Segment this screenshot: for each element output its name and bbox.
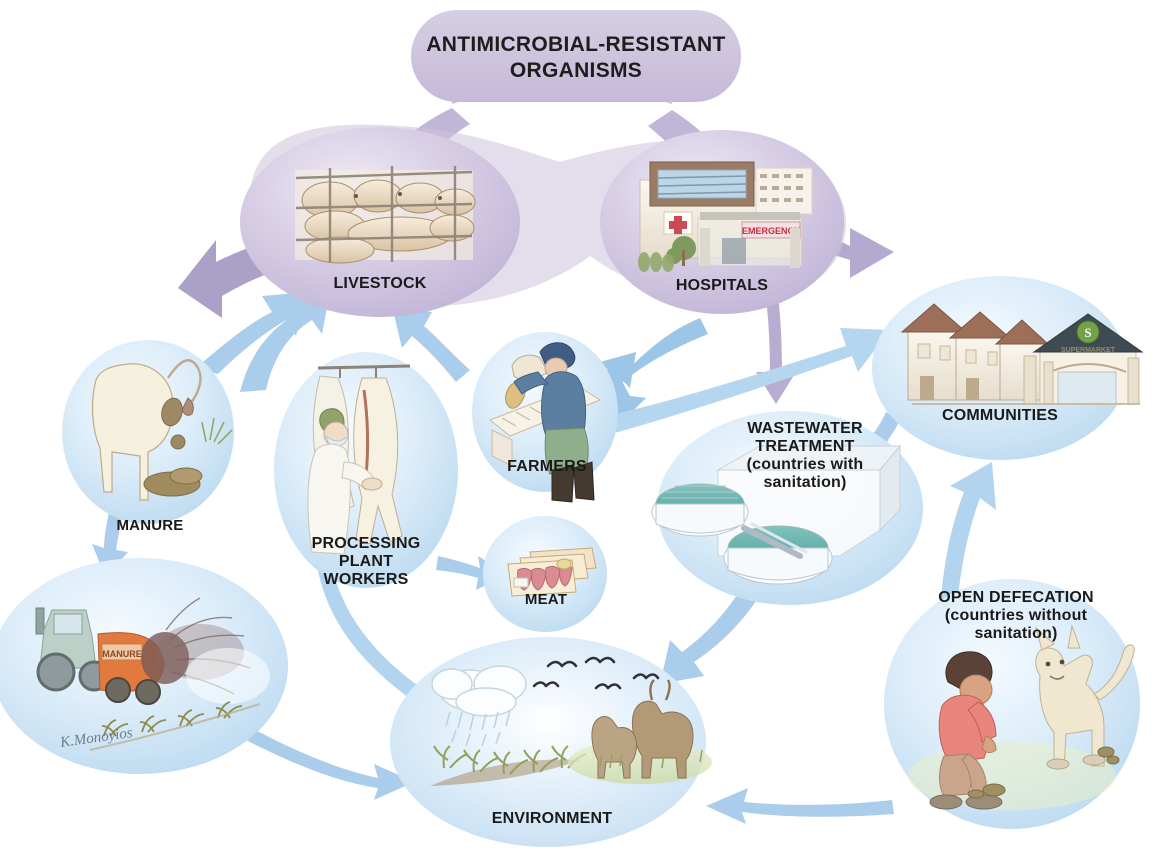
pigs-in-pens-illustration xyxy=(295,166,475,263)
diagram-canvas: EMERGENCY xyxy=(0,0,1164,856)
antimicrobial-resistance-transmission-diagram: EMERGENCY xyxy=(0,0,1164,856)
manure-tank-label-text: MANURE xyxy=(102,649,142,659)
arrow-open-defecation-to-environment xyxy=(706,788,894,824)
page-title: ANTIMICROBIAL-RESISTANT ORGANISMS xyxy=(411,32,741,83)
svg-text:S: S xyxy=(1084,325,1091,340)
arrow-manure-spread-to-environment xyxy=(238,726,414,800)
supermarket-sign-text: SUPERMARKET xyxy=(1061,347,1116,354)
hospital-building-emergency-illustration: EMERGENCY xyxy=(638,162,812,272)
